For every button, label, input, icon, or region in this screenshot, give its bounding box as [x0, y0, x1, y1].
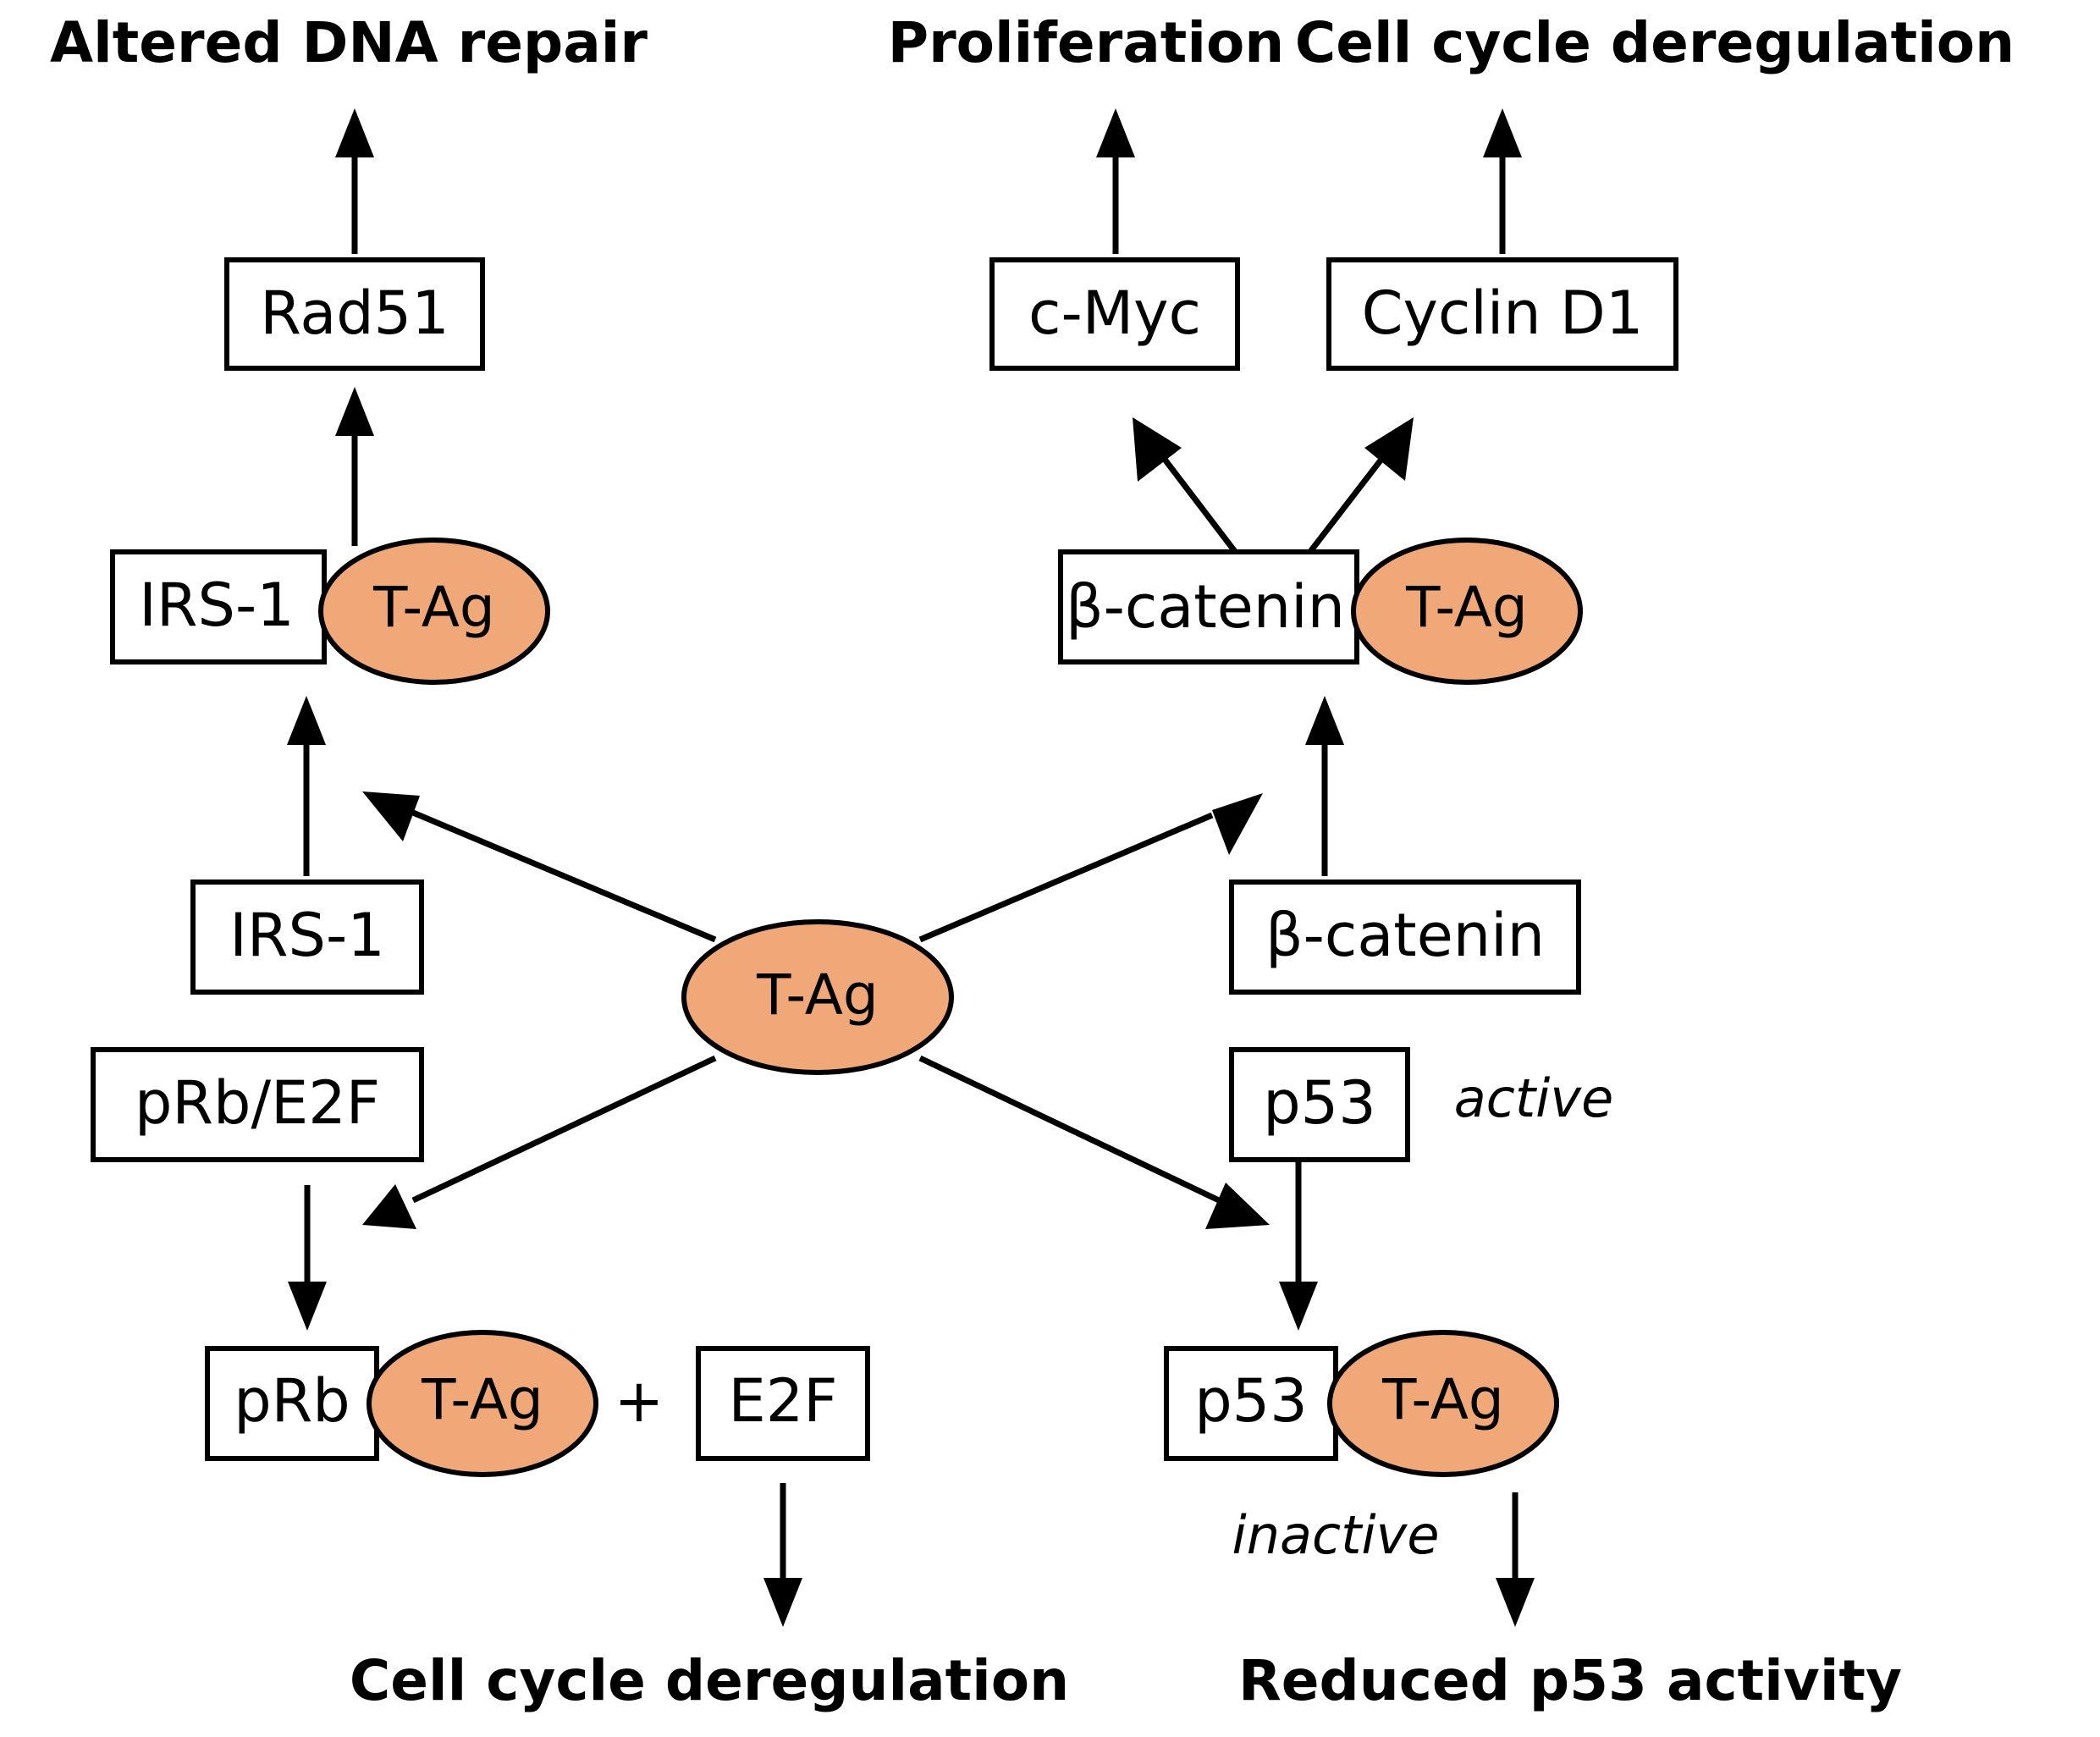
operator-plus: +: [615, 1366, 664, 1436]
node-e2f-free[interactable]: E2F: [698, 1348, 868, 1459]
pathway-diagram: Altered DNA repair Proliferation Cell cy…: [0, 0, 2100, 1737]
node-p53-bound-label: p53: [1194, 1366, 1308, 1436]
node-beta-catenin-free-label: β-catenin: [1265, 901, 1545, 970]
node-beta-catenin-free[interactable]: β-catenin: [1232, 882, 1579, 992]
edge-betacatenin-to-cmyc: [1133, 417, 1242, 560]
node-tag-p53-label: T-Ag: [1381, 1367, 1504, 1432]
pathway-canvas: Altered DNA repair Proliferation Cell cy…: [0, 0, 2100, 1737]
node-p53-free-label: p53: [1263, 1068, 1376, 1138]
node-tag-betacatenin-label: T-Ag: [1405, 575, 1528, 640]
node-p53-free[interactable]: p53: [1232, 1050, 1408, 1160]
state-p53-active-label: active: [1454, 1067, 1613, 1129]
node-rad51-label: Rad51: [260, 278, 449, 348]
edge-tagcenter-to-p53bound: [920, 1058, 1270, 1229]
edge-p53free-to-p53bound: [1279, 1158, 1318, 1331]
node-irs1-free-label: IRS-1: [229, 901, 385, 970]
node-cyclin-d1[interactable]: Cyclin D1: [1329, 260, 1676, 368]
edge-rad51-to-altered-dna-repair: [335, 108, 374, 254]
edge-cmyc-to-proliferation: [1096, 108, 1135, 254]
node-tag-center-label: T-Ag: [756, 962, 879, 1028]
node-tag-center[interactable]: T-Ag: [684, 922, 951, 1073]
edge-betacatenin-to-cyclind1: [1304, 417, 1414, 560]
node-c-myc-label: c-Myc: [1028, 278, 1201, 348]
complex-betacatenin-tag[interactable]: β-catenin T-Ag: [1061, 540, 1580, 682]
edge-p53bound-to-reduced-p53-activity: [1496, 1492, 1535, 1627]
node-prb-e2f[interactable]: pRb/E2F: [93, 1050, 422, 1160]
node-rad51[interactable]: Rad51: [227, 260, 482, 368]
node-e2f-free-label: E2F: [728, 1366, 837, 1436]
edge-tagcenter-to-betacateninfree: [920, 793, 1263, 940]
node-cyclin-d1-label: Cyclin D1: [1362, 278, 1644, 348]
state-p53-inactive-label: inactive: [1232, 1504, 1440, 1566]
outcome-reduced-p53-activity: Reduced p53 activity: [1238, 1648, 1902, 1713]
outcome-altered-dna-repair: Altered DNA repair: [50, 10, 648, 75]
outcome-cell-cycle-deregulation-bottom: Cell cycle deregulation: [350, 1648, 1069, 1713]
edge-betacateninfree-to-betacateninbound: [1305, 696, 1344, 876]
edge-irs1free-to-irs1bound: [287, 696, 326, 876]
node-tag-irs1-label: T-Ag: [372, 575, 495, 640]
node-prb-e2f-label: pRb/E2F: [135, 1068, 380, 1138]
node-beta-catenin-bound-label: β-catenin: [1066, 572, 1345, 642]
node-c-myc[interactable]: c-Myc: [992, 260, 1237, 368]
node-irs1-bound-label: IRS-1: [139, 571, 295, 640]
edge-irs1bound-to-rad51: [335, 387, 374, 546]
complex-prb-tag[interactable]: pRb T-Ag: [207, 1332, 596, 1475]
edge-e2f-to-cellcycle-bottom: [763, 1483, 802, 1627]
outcome-proliferation: Proliferation: [888, 10, 1285, 75]
complex-irs1-tag[interactable]: IRS-1 T-Ag: [113, 540, 548, 682]
node-prb-bound-label: pRb: [234, 1366, 350, 1436]
edge-cyclind1-to-cellcycle-top: [1483, 108, 1522, 254]
node-irs1-free[interactable]: IRS-1: [193, 882, 422, 992]
edge-prbe2f-to-prbbound: [288, 1185, 327, 1331]
outcome-cell-cycle-deregulation-top: Cell cycle deregulation: [1295, 10, 2015, 75]
complex-p53-tag[interactable]: p53 T-Ag: [1166, 1332, 1557, 1475]
node-tag-prb-label: T-Ag: [421, 1367, 543, 1432]
